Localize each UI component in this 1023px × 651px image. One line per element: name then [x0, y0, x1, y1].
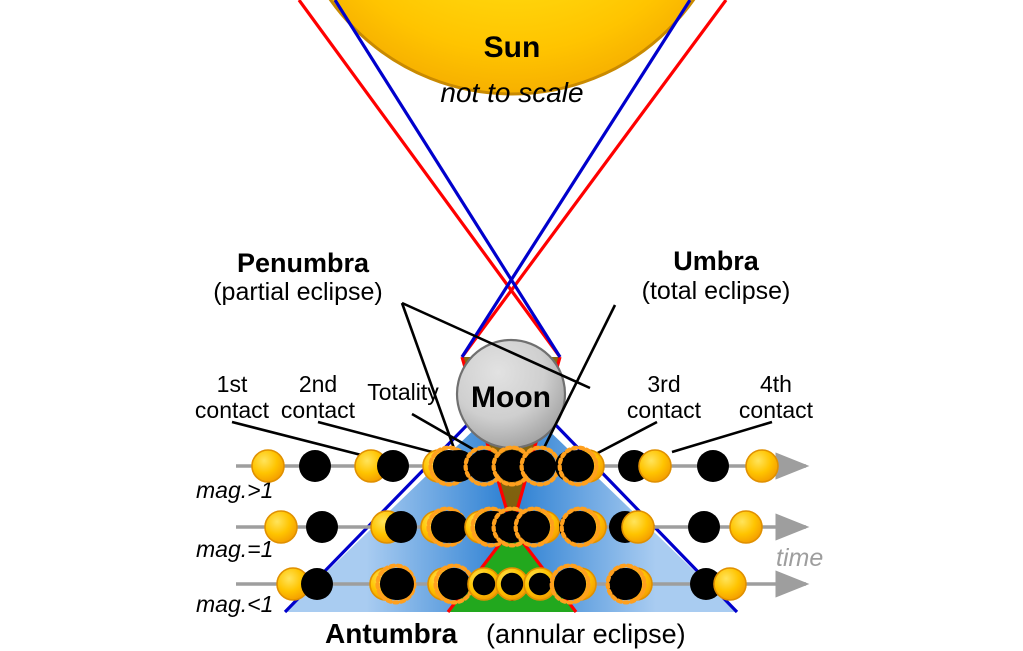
phase-moon: [382, 568, 414, 600]
sun-scale-note: not to scale: [440, 77, 583, 108]
contact-4-line2: contact: [739, 397, 814, 423]
phase-moon: [301, 568, 333, 600]
leader-contact-3: [592, 422, 657, 456]
sun-disk-icon: [622, 511, 654, 543]
partial-moon-icon: [564, 511, 596, 543]
antumbra-title: Antumbra: [325, 618, 458, 649]
phase-sun: [622, 511, 654, 543]
moon-disk-icon: [377, 450, 409, 482]
annular-moon-icon: [501, 573, 523, 595]
phase-moon: [299, 450, 331, 482]
moon-disk-icon: [436, 511, 468, 543]
moon-disk-icon: [306, 511, 338, 543]
phase-moon: [306, 511, 338, 543]
phase-sun: [252, 450, 284, 482]
leader-contact-1: [232, 422, 373, 458]
phase-sun: [746, 450, 778, 482]
umbra-title: Umbra: [673, 246, 760, 276]
sun-disk-icon: [252, 450, 284, 482]
penumbra-title: Penumbra: [237, 248, 370, 278]
partial-moon-icon: [562, 450, 594, 482]
sun-disk-icon: [730, 511, 762, 543]
phase-moon: [436, 511, 468, 543]
contact-3-line2: contact: [627, 397, 702, 423]
moon-disk-icon: [382, 568, 414, 600]
umbra-subtitle: (total eclipse): [642, 277, 791, 305]
phase-partial-right: [552, 566, 596, 603]
totality-label: Totality: [367, 379, 439, 405]
phase-partial-right: [516, 509, 560, 546]
moon-disk-icon: [697, 450, 729, 482]
phase-sun: [639, 450, 671, 482]
timeline-row-2: [236, 509, 806, 546]
contact-4-line1: 4th: [760, 371, 792, 397]
time-axis-label: time: [776, 544, 823, 572]
totality-icon: [524, 450, 556, 482]
magnitude-label-lt1: mag.<1: [196, 591, 273, 617]
sun-disk-icon: [714, 568, 746, 600]
leader-contact-4: [672, 422, 772, 452]
partial-moon-icon: [610, 568, 642, 600]
partial-moon-icon: [518, 511, 550, 543]
timeline-row-1: [236, 448, 806, 485]
phase-moon: [385, 511, 417, 543]
magnitude-label-eq1: mag.=1: [196, 536, 273, 562]
moon-disk-icon: [688, 511, 720, 543]
contact-2-line1: 2nd: [299, 371, 337, 397]
phase-partial-right: [562, 509, 606, 546]
phase-moon: [688, 511, 720, 543]
phase-moon: [377, 450, 409, 482]
phase-moon: [697, 450, 729, 482]
timeline-row-3: [236, 566, 806, 603]
contact-1-line1: 1st: [217, 371, 248, 397]
phase-sun: [265, 511, 297, 543]
antumbra-subtitle: (annular eclipse): [486, 619, 686, 649]
moon-disk-icon: [438, 568, 470, 600]
sun-disk-icon: [265, 511, 297, 543]
penumbra-subtitle: (partial eclipse): [213, 278, 383, 306]
phase-sun: [730, 511, 762, 543]
eclipse-timelines: [236, 448, 806, 603]
phase-partial-right: [560, 448, 604, 485]
phase-moon: [438, 568, 470, 600]
contact-2-line2: contact: [281, 397, 356, 423]
contact-1-line2: contact: [195, 397, 270, 423]
contact-3-line1: 3rd: [647, 371, 680, 397]
annular-moon-icon: [529, 573, 551, 595]
sun-disk-icon: [746, 450, 778, 482]
moon-disk-icon: [301, 568, 333, 600]
sun-disk-icon: [639, 450, 671, 482]
eclipse-diagram-canvas: Sun not to scale Moon Penumbra (partial …: [0, 0, 1023, 651]
phase-partial-right: [608, 566, 652, 603]
phase-sun: [714, 568, 746, 600]
moon-disk-icon: [299, 450, 331, 482]
moon-label: Moon: [471, 381, 551, 414]
moon-disk-icon: [385, 511, 417, 543]
annular-moon-icon: [473, 573, 495, 595]
sun-label: Sun: [484, 31, 541, 64]
phase-totality: [522, 448, 559, 485]
eclipse-diagram-svg: Sun not to scale Moon Penumbra (partial …: [0, 0, 1023, 651]
partial-moon-icon: [554, 568, 586, 600]
